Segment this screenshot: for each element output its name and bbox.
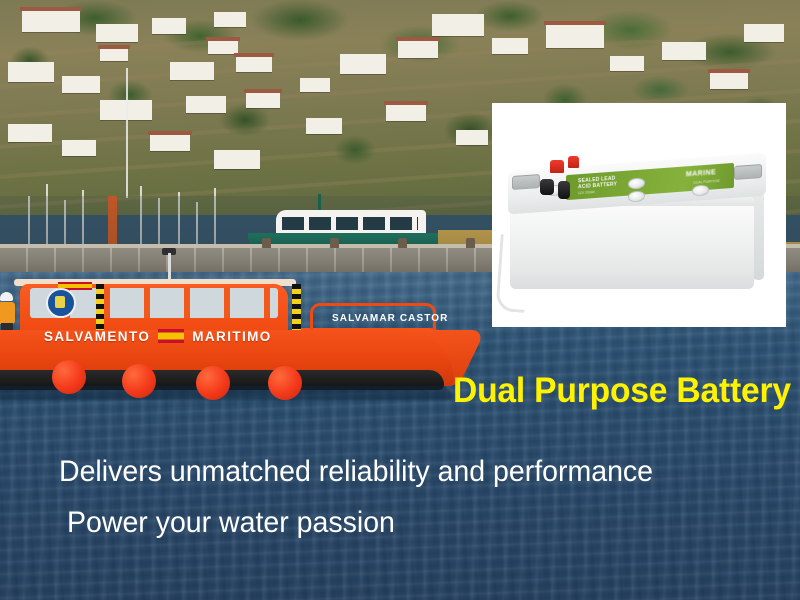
- hillside-villa: [170, 62, 214, 80]
- hillside-villa: [8, 124, 52, 142]
- negative-terminal-cap: [558, 181, 570, 199]
- battery-label-brand-sub: DUAL PURPOSE: [694, 179, 720, 185]
- hillside-villa: [610, 56, 644, 71]
- hillside-villa: [662, 42, 706, 60]
- hillside-villa: [150, 134, 190, 151]
- negative-terminal: [540, 179, 554, 195]
- positive-terminal-cap: [550, 160, 564, 173]
- hillside-villa: [300, 78, 330, 92]
- product-inset-panel: SEALED LEAD ACID BATTERY 12V 200Ah MARIN…: [492, 103, 786, 327]
- hillside-villa: [186, 96, 226, 113]
- hillside-villa: [100, 48, 128, 61]
- hillside-villa: [432, 14, 484, 36]
- headline-dual-purpose-battery: Dual Purpose Battery: [453, 371, 791, 411]
- hazard-stripe-fwd: [96, 284, 104, 330]
- battery-label-capacity: 12V 200Ah: [578, 190, 595, 195]
- crew-lifevest: [0, 302, 15, 324]
- boat-fender-buoy: [268, 366, 302, 400]
- hillside-villa: [22, 10, 80, 32]
- hillside-villa: [62, 76, 100, 93]
- battery-label-brand: MARINE: [686, 169, 716, 178]
- battery-product-image: SEALED LEAD ACID BATTERY 12V 200Ah MARIN…: [506, 161, 768, 291]
- hillside-villa: [96, 24, 138, 42]
- subline-reliability: Delivers unmatched reliability and perfo…: [59, 455, 653, 489]
- hillside-villa: [306, 118, 342, 134]
- boat-hull-lettering: SALVAMENTO MARITIMO: [44, 326, 314, 346]
- boat-stern-name: SALVAMAR CASTOR: [332, 313, 449, 324]
- hillside-villa: [386, 104, 426, 121]
- hillside-villa: [214, 12, 246, 27]
- tour-boat-mast: [318, 194, 321, 210]
- boat-text-maritimo: MARITIMO: [192, 329, 271, 344]
- battery-label-spec: SEALED LEAD ACID BATTERY: [578, 175, 617, 190]
- hillside-villa: [398, 40, 438, 58]
- subline-water-passion: Power your water passion: [67, 506, 395, 540]
- hillside-villa: [744, 24, 784, 42]
- hillside-villa: [456, 130, 488, 145]
- boat-mast: [168, 253, 171, 279]
- hazard-stripe-aft: [292, 284, 301, 330]
- battery-handle-right: [734, 164, 762, 180]
- hillside-villa: [8, 62, 54, 82]
- hillside-villa: [152, 18, 186, 34]
- hillside-villa: [492, 38, 528, 54]
- boat-fender-buoy: [122, 364, 156, 398]
- advertisement-poster: SALVAMENTO MARITIMO SALVAMAR CASTOR SEAL…: [0, 0, 800, 600]
- sailboat-mast: [126, 68, 128, 198]
- battery-handle-left: [512, 174, 540, 190]
- boat-text-salvamento: SALVAMENTO: [44, 329, 150, 344]
- spain-flag-icon: [158, 329, 184, 343]
- crew-helmet: [0, 292, 13, 301]
- hillside-villa: [340, 54, 386, 74]
- hillside-villa: [236, 56, 272, 72]
- positive-terminal: [568, 156, 579, 168]
- hillside-villa: [246, 92, 280, 108]
- boat-fender-buoy: [196, 366, 230, 400]
- hillside-villa: [546, 24, 604, 48]
- tour-boat-windows: [282, 217, 418, 230]
- crew-member: [0, 292, 16, 332]
- rescue-service-emblem: [46, 288, 76, 318]
- boat-fender-buoy: [52, 360, 86, 394]
- hillside-villa: [208, 40, 238, 54]
- hillside-villa: [710, 72, 748, 89]
